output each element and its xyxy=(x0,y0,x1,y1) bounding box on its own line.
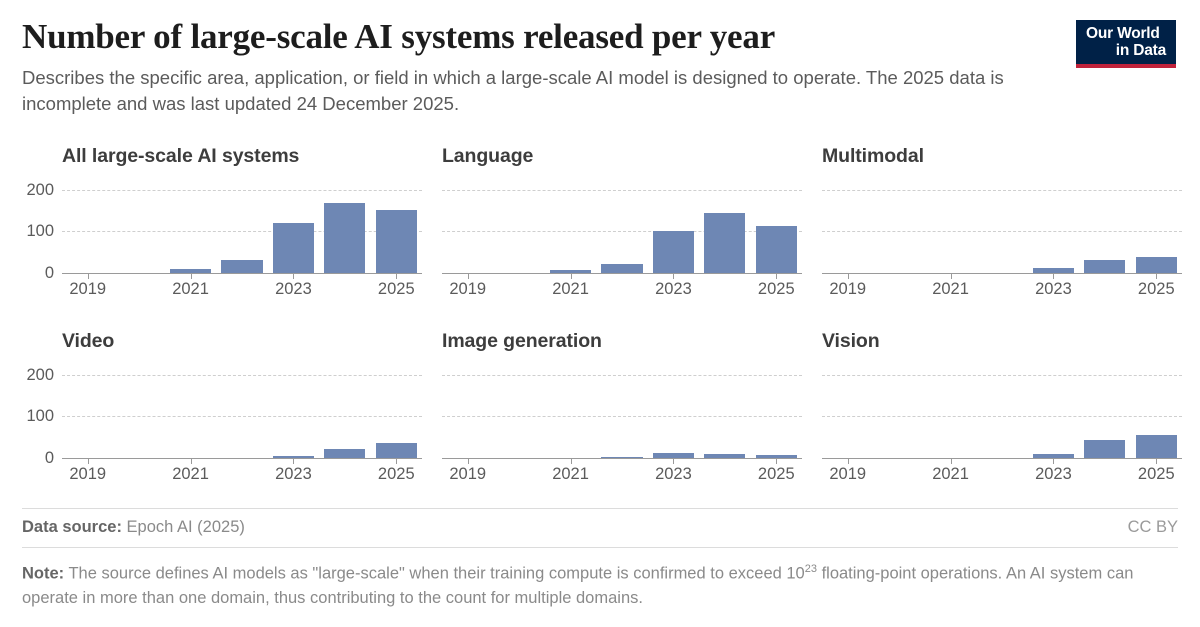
x-axis-tick-label: 2025 xyxy=(378,466,415,483)
x-axis-tick-mark xyxy=(673,273,674,279)
bar-2025[interactable] xyxy=(756,226,797,273)
panel-vision: Vision2019202120232025 xyxy=(822,330,1182,458)
x-axis-tick-mark xyxy=(191,273,192,279)
chart-page: Number of large-scale AI systems release… xyxy=(0,0,1200,627)
x-axis-tick-mark xyxy=(396,273,397,279)
x-axis-tick-mark xyxy=(1053,458,1054,464)
gridline xyxy=(62,375,422,376)
x-axis-tick-label: 2021 xyxy=(172,281,209,298)
gridline xyxy=(822,231,1182,232)
note-exponent: 23 xyxy=(805,563,817,575)
bar-2024[interactable] xyxy=(324,449,365,458)
gridline xyxy=(442,416,802,417)
x-axis-tick-mark xyxy=(571,273,572,279)
gridline xyxy=(822,190,1182,191)
our-world-in-data-logo[interactable]: Our World in Data xyxy=(1076,20,1176,68)
bar-2025[interactable] xyxy=(1136,257,1177,273)
x-axis-tick-mark xyxy=(776,458,777,464)
plot-area: 2019202120232025 xyxy=(822,362,1182,458)
x-axis-tick-label: 2023 xyxy=(275,466,312,483)
x-axis-tick-label: 2023 xyxy=(655,466,692,483)
x-axis-tick-label: 2019 xyxy=(449,466,486,483)
plot-area: 01002002019202120232025 xyxy=(62,177,422,273)
x-axis: 2019202120232025 xyxy=(442,458,802,484)
x-axis: 2019202120232025 xyxy=(822,458,1182,484)
x-axis-tick-label: 2025 xyxy=(1138,466,1175,483)
chart-note: Note: The source defines AI models as "l… xyxy=(22,557,1178,610)
x-axis-tick-mark xyxy=(88,273,89,279)
bar-2024[interactable] xyxy=(1084,440,1125,458)
x-axis-tick-label: 2019 xyxy=(69,281,106,298)
plot-area: 2019202120232025 xyxy=(822,177,1182,273)
bar-2022[interactable] xyxy=(221,260,262,273)
x-axis-tick-mark xyxy=(191,458,192,464)
panel-title: All large-scale AI systems xyxy=(62,145,422,168)
x-axis-tick-label: 2023 xyxy=(1035,466,1072,483)
x-axis-tick-mark xyxy=(848,458,849,464)
x-axis: 2019202120232025 xyxy=(822,273,1182,299)
x-axis-tick-mark xyxy=(1053,273,1054,279)
panel-title: Video xyxy=(62,330,422,353)
x-axis: 2019202120232025 xyxy=(62,458,422,484)
x-axis-tick-label: 2021 xyxy=(552,281,589,298)
source-row: Data source: Epoch AI (2025) CC BY xyxy=(22,509,1178,547)
chart-footer: Data source: Epoch AI (2025) CC BY Note:… xyxy=(22,508,1178,610)
small-multiples-grid: All large-scale AI systems01002002019202… xyxy=(0,145,1200,500)
x-axis-tick-mark xyxy=(396,458,397,464)
x-axis-tick-label: 2023 xyxy=(655,281,692,298)
logo-line-2: in Data xyxy=(1076,42,1176,59)
note-row: Note: The source defines AI models as "l… xyxy=(22,548,1178,610)
bar-2023[interactable] xyxy=(273,223,314,273)
x-axis-tick-mark xyxy=(468,458,469,464)
x-axis: 2019202120232025 xyxy=(62,273,422,299)
y-axis-tick-label: 200 xyxy=(26,366,54,383)
x-axis-tick-label: 2021 xyxy=(552,466,589,483)
chart-header: Number of large-scale AI systems release… xyxy=(22,16,1052,117)
x-axis-tick-label: 2019 xyxy=(829,281,866,298)
gridline xyxy=(62,416,422,417)
plot-area: 2019202120232025 xyxy=(442,362,802,458)
license-badge[interactable]: CC BY xyxy=(1128,518,1178,537)
x-axis-tick-mark xyxy=(951,458,952,464)
x-axis-tick-label: 2025 xyxy=(378,281,415,298)
x-axis-tick-label: 2021 xyxy=(932,466,969,483)
x-axis-tick-mark xyxy=(1156,458,1157,464)
x-axis-tick-mark xyxy=(293,273,294,279)
plot-area: 2019202120232025 xyxy=(442,177,802,273)
panel-title: Image generation xyxy=(442,330,802,353)
x-axis-tick-mark xyxy=(1156,273,1157,279)
gridline xyxy=(442,231,802,232)
chart-subtitle: Describes the specific area, application… xyxy=(22,65,1012,117)
logo-line-1: Our World xyxy=(1076,25,1176,42)
note-label: Note: xyxy=(22,565,64,583)
data-source-label: Data source: xyxy=(22,518,122,536)
x-axis-tick-label: 2023 xyxy=(1035,281,1072,298)
bar-2024[interactable] xyxy=(704,213,745,273)
x-axis-tick-label: 2019 xyxy=(829,466,866,483)
data-source: Data source: Epoch AI (2025) xyxy=(22,518,245,537)
panel-multimodal: Multimodal2019202120232025 xyxy=(822,145,1182,273)
gridline xyxy=(442,190,802,191)
plot-area: 01002002019202120232025 xyxy=(62,362,422,458)
x-axis-tick-label: 2021 xyxy=(172,466,209,483)
y-axis-tick-label: 100 xyxy=(26,408,54,425)
panel-title: Vision xyxy=(822,330,1182,353)
page-title: Number of large-scale AI systems release… xyxy=(22,16,1052,58)
x-axis-tick-label: 2021 xyxy=(932,281,969,298)
panel-title: Language xyxy=(442,145,802,168)
x-axis-tick-mark xyxy=(673,458,674,464)
x-axis-tick-label: 2023 xyxy=(275,281,312,298)
x-axis-tick-label: 2025 xyxy=(758,466,795,483)
x-axis-tick-mark xyxy=(468,273,469,279)
y-axis-tick-label: 200 xyxy=(26,181,54,198)
y-axis-tick-label: 0 xyxy=(45,265,54,282)
x-axis: 2019202120232025 xyxy=(442,273,802,299)
data-source-value: Epoch AI (2025) xyxy=(127,518,245,536)
bar-2024[interactable] xyxy=(1084,260,1125,273)
x-axis-tick-label: 2025 xyxy=(758,281,795,298)
y-axis-tick-label: 100 xyxy=(26,223,54,240)
bar-2022[interactable] xyxy=(601,264,642,273)
panel-all-large-scale-ai-systems: All large-scale AI systems01002002019202… xyxy=(62,145,422,273)
x-axis-tick-label: 2025 xyxy=(1138,281,1175,298)
x-axis-tick-mark xyxy=(951,273,952,279)
x-axis-tick-mark xyxy=(88,458,89,464)
panel-title: Multimodal xyxy=(822,145,1182,168)
bar-2024[interactable] xyxy=(324,203,365,273)
panel-video: Video01002002019202120232025 xyxy=(62,330,422,458)
note-part-1: The source defines AI models as "large-s… xyxy=(68,565,804,583)
panel-language: Language2019202120232025 xyxy=(442,145,802,273)
x-axis-tick-label: 2019 xyxy=(69,466,106,483)
bar-2025[interactable] xyxy=(1136,435,1177,458)
x-axis-tick-mark xyxy=(776,273,777,279)
x-axis-tick-label: 2019 xyxy=(449,281,486,298)
bar-2023[interactable] xyxy=(653,231,694,273)
bar-2025[interactable] xyxy=(376,443,417,458)
gridline xyxy=(62,190,422,191)
gridline xyxy=(822,375,1182,376)
panel-image-generation: Image generation2019202120232025 xyxy=(442,330,802,458)
gridline xyxy=(822,416,1182,417)
x-axis-tick-mark xyxy=(571,458,572,464)
y-axis-tick-label: 0 xyxy=(45,450,54,467)
x-axis-tick-mark xyxy=(293,458,294,464)
gridline xyxy=(62,231,422,232)
bar-2025[interactable] xyxy=(376,210,417,273)
x-axis-tick-mark xyxy=(848,273,849,279)
gridline xyxy=(442,375,802,376)
